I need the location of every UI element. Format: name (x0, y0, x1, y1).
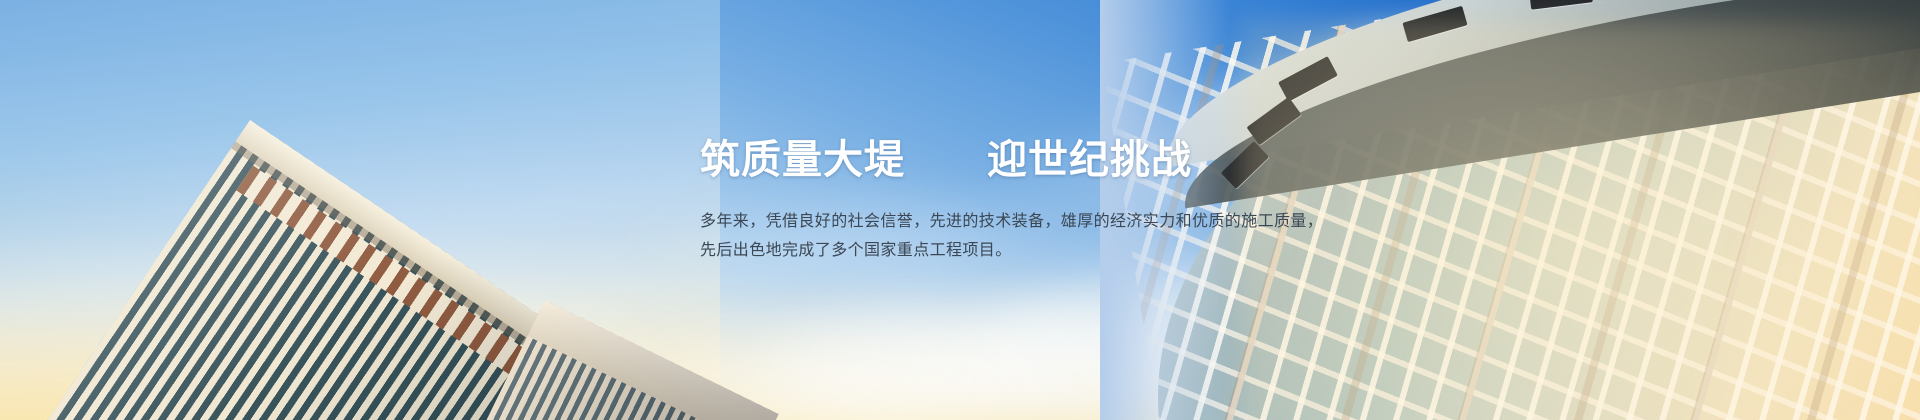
right-building-sun-glow (1240, 20, 1920, 420)
hero-banner: 筑质量大堤 迎世纪挑战 多年来，凭借良好的社会信誉，先进的技术装备，雄厚的经济实… (0, 0, 1920, 420)
banner-headline: 筑质量大堤 迎世纪挑战 (700, 138, 1340, 183)
banner-subtitle-line-2: 先后出色地完成了多个国家重点工程项目。 (700, 236, 1340, 266)
banner-subtitle-line-1: 多年来，凭借良好的社会信誉，先进的技术装备，雄厚的经济实力和优质的施工质量， (700, 207, 1340, 237)
banner-subtitle: 多年来，凭借良好的社会信誉，先进的技术装备，雄厚的经济实力和优质的施工质量， 先… (700, 207, 1340, 266)
banner-copy-block: 筑质量大堤 迎世纪挑战 多年来，凭借良好的社会信誉，先进的技术装备，雄厚的经济实… (700, 138, 1340, 266)
